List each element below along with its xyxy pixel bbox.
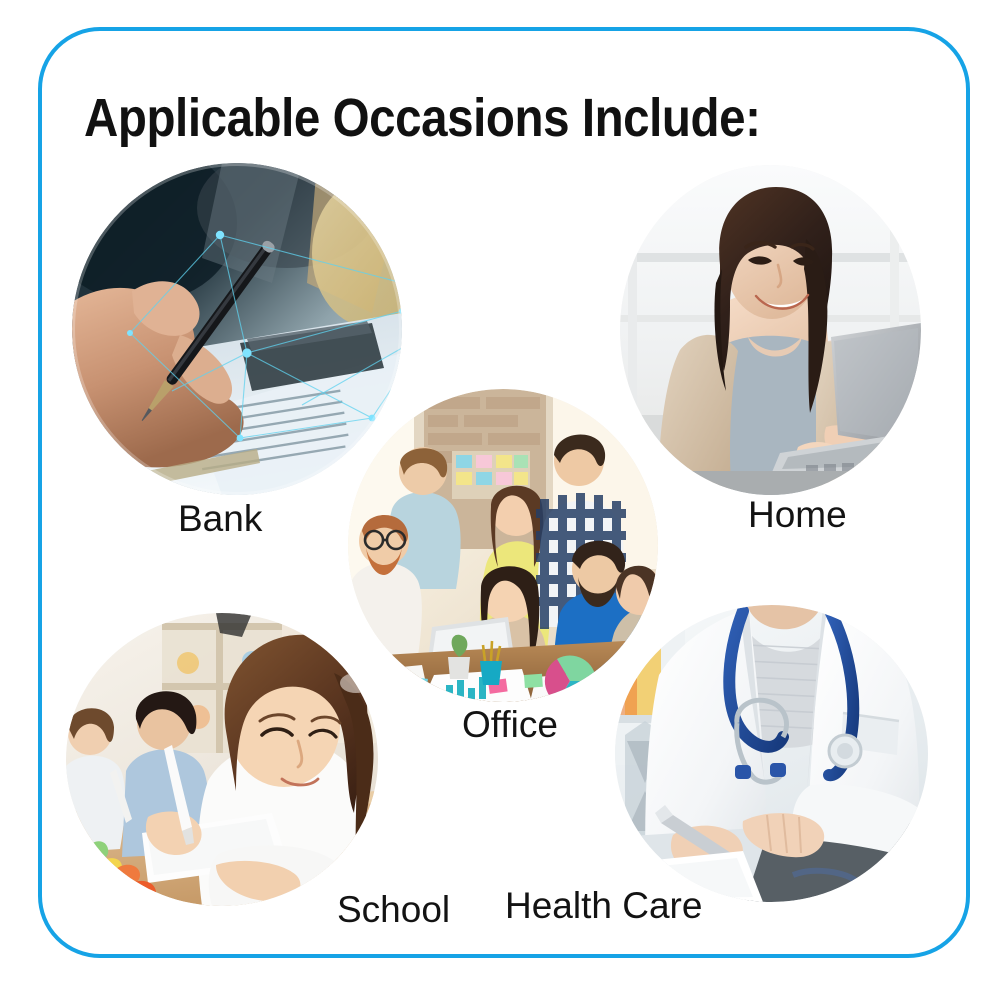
occasion-label-health-care: Health Care [505,886,702,926]
health-care-photo [615,605,928,902]
poster-canvas: Applicable Occasions Include: [0,0,1000,1000]
home-photo [620,165,921,495]
bank-photo [72,163,402,495]
office-photo [348,389,658,702]
school-photo [66,613,378,906]
occasion-label-home: Home [748,495,847,535]
occasion-label-school: School [337,890,450,930]
occasion-label-office: Office [462,705,558,745]
occasion-label-bank: Bank [178,499,262,539]
page-title: Applicable Occasions Include: [84,90,760,146]
